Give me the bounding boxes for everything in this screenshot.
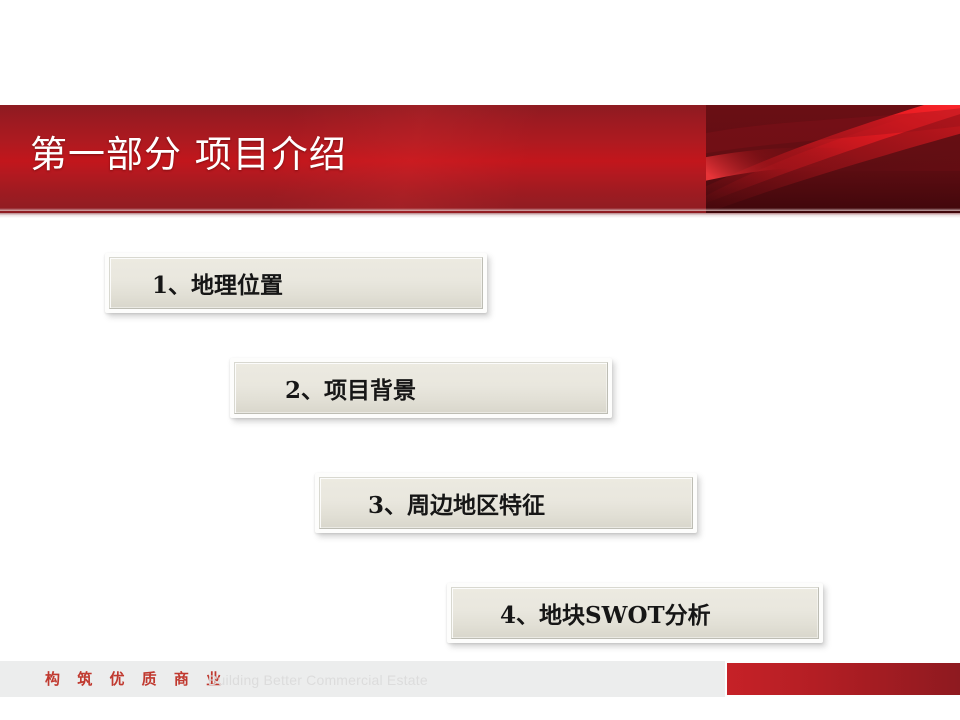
slide-title: 第一部分 项目介绍	[30, 126, 347, 184]
agenda-item-1[interactable]: 1、地理位置	[105, 253, 487, 313]
banner-dark-panel	[706, 105, 960, 213]
footer-slogan-english: Building Better Commercial Estate	[208, 670, 428, 690]
banner-drop-shadow	[0, 213, 960, 218]
agenda-item-1-inner: 1、地理位置	[109, 257, 483, 309]
footer-red-bar	[727, 663, 960, 695]
agenda-item-4-inner: 4、地块SWOT分析	[451, 587, 819, 639]
agenda-item-4[interactable]: 4、地块SWOT分析	[447, 583, 823, 643]
agenda-item-1-label: 1、地理位置	[110, 266, 283, 300]
agenda-item-3-label: 3、周边地区特征	[320, 486, 545, 520]
agenda-item-3[interactable]: 3、周边地区特征	[315, 473, 697, 533]
banner-top-highlight	[0, 208, 960, 211]
agenda-item-2[interactable]: 2、项目背景	[230, 358, 612, 418]
agenda-item-2-inner: 2、项目背景	[234, 362, 608, 414]
presentation-slide: 第一部分 项目介绍 1、地理位置 2、项目背景 3、周边地区特征 4、地块SWO…	[0, 0, 960, 720]
footer-slogan-chinese: 构 筑 优 质 商 业	[45, 668, 227, 690]
agenda-item-2-label: 2、项目背景	[235, 371, 416, 405]
swoosh-graphic	[706, 105, 960, 213]
agenda-item-4-label: 4、地块SWOT分析	[452, 596, 711, 630]
agenda-item-3-inner: 3、周边地区特征	[319, 477, 693, 529]
